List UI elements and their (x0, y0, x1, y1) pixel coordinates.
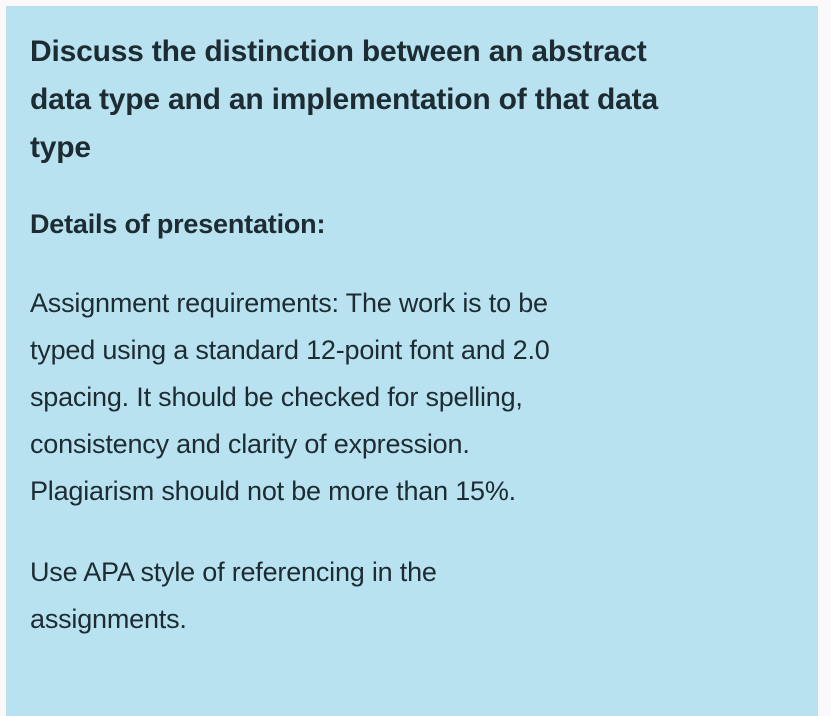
assignment-requirements-paragraph: Assignment requirements: The work is to … (30, 280, 788, 515)
referencing-style-paragraph: Use APA style of referencing in the assi… (30, 549, 788, 643)
details-of-presentation-heading: Details of presentation: (30, 204, 788, 244)
assignment-heading: Discuss the distinction between an abstr… (30, 28, 788, 172)
content-panel: Discuss the distinction between an abstr… (6, 6, 818, 716)
page-canvas: Discuss the distinction between an abstr… (0, 0, 831, 716)
